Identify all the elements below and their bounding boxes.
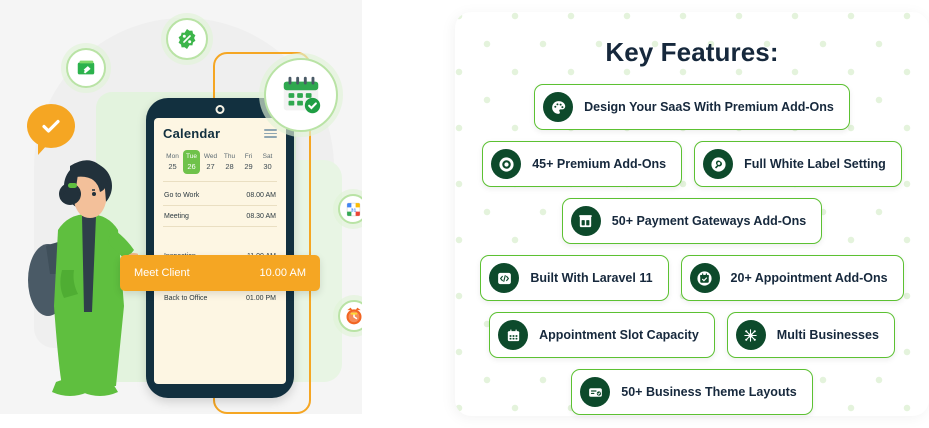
event-title: Meeting [164, 213, 189, 220]
discount-percent-icon [166, 18, 208, 60]
calendar-check-icon [264, 58, 338, 132]
highlighted-event-time: 10.00 AM [260, 267, 306, 279]
calendar-header: Calendar [163, 126, 277, 141]
event-title: Go to Work [164, 192, 199, 199]
credit-card-design-icon [66, 48, 106, 88]
day-name: Wed [202, 152, 219, 162]
week-day-selected[interactable]: Tue 26 [183, 150, 200, 174]
day-name: Mon [164, 152, 181, 162]
disc-target-icon [491, 149, 521, 179]
feature-chip-appointment-addons[interactable]: 20+ Appointment Add-Ons [681, 255, 904, 301]
week-strip: Mon 25 Tue 26 Wed 27 Thu 28 [163, 150, 277, 182]
feature-rows: Design Your SaaS With Premium Add-Ons 45… [455, 84, 929, 415]
palette-icon [543, 92, 573, 122]
week-day[interactable]: Wed 27 [202, 150, 219, 174]
feature-chip-laravel[interactable]: Built With Laravel 11 [480, 255, 668, 301]
calendar-grid-icon [498, 320, 528, 350]
event-row[interactable]: Meeting 08.30 AM [163, 206, 277, 227]
feature-label: Full White Label Setting [744, 157, 886, 171]
feature-label: 50+ Business Theme Layouts [621, 385, 796, 399]
label-tag-icon [703, 149, 733, 179]
feature-label: Multi Businesses [777, 328, 879, 342]
event-time: 08.30 AM [246, 213, 276, 220]
feature-chip-premium-addons[interactable]: 45+ Premium Add-Ons [482, 141, 682, 187]
features-panel: Key Features: Design Your SaaS With Prem… [455, 12, 929, 416]
highlighted-event-title: Meet Client [134, 267, 190, 279]
page-title: Key Features: [455, 37, 929, 68]
day-date: 29 [240, 162, 257, 173]
week-day[interactable]: Fri 29 [240, 150, 257, 174]
feature-row: Design Your SaaS With Premium Add-Ons [455, 84, 929, 130]
feature-row: 50+ Business Theme Layouts [455, 369, 929, 415]
feature-row: 45+ Premium Add-Ons Full White Label Set… [455, 141, 929, 187]
week-day[interactable]: Mon 25 [164, 150, 181, 174]
network-nodes-icon [736, 320, 766, 350]
feature-chip-white-label[interactable]: Full White Label Setting [694, 141, 902, 187]
key-features-banner: Calendar Mon 25 Tue 26 Wed 27 [0, 0, 929, 428]
week-day[interactable]: Sat 30 [259, 150, 276, 174]
calendar-check-icon [690, 263, 720, 293]
alarm-clock-icon [338, 300, 362, 332]
day-date: 25 [164, 162, 181, 173]
feature-label: 45+ Premium Add-Ons [532, 157, 666, 171]
google-calendar-31-icon: 31 [338, 194, 362, 224]
feature-chip-design-saas[interactable]: Design Your SaaS With Premium Add-Ons [534, 84, 850, 130]
calendar-app-title: Calendar [163, 126, 220, 141]
event-time: 01.00 PM [246, 295, 276, 302]
phone-camera-icon [216, 105, 225, 114]
feature-chip-slot-capacity[interactable]: Appointment Slot Capacity [489, 312, 715, 358]
day-name: Tue [183, 152, 200, 162]
highlighted-event-row[interactable]: Meet Client 10.00 AM [120, 255, 320, 291]
feature-row: Built With Laravel 11 20+ Appointment Ad… [455, 255, 929, 301]
hamburger-icon[interactable] [264, 129, 277, 138]
feature-label: 50+ Payment Gateways Add-Ons [612, 214, 806, 228]
payment-gateway-icon [571, 206, 601, 236]
day-date: 26 [183, 162, 200, 173]
feature-chip-multi-businesses[interactable]: Multi Businesses [727, 312, 895, 358]
day-name: Thu [221, 152, 238, 162]
event-row[interactable]: Back to Office 01.00 PM [163, 288, 277, 308]
day-date: 28 [221, 162, 238, 173]
phone-mockup: Calendar Mon 25 Tue 26 Wed 27 [146, 98, 294, 398]
code-brackets-icon [489, 263, 519, 293]
feature-label: Appointment Slot Capacity [539, 328, 699, 342]
checkmark-bubble-icon [27, 104, 75, 148]
feature-row: 50+ Payment Gateways Add-Ons [455, 198, 929, 244]
feature-label: 20+ Appointment Add-Ons [731, 271, 888, 285]
feature-label: Built With Laravel 11 [530, 271, 652, 285]
feature-row: Appointment Slot Capacity Multi Business… [455, 312, 929, 358]
feature-chip-theme-layouts[interactable]: 50+ Business Theme Layouts [571, 369, 812, 415]
card-layout-icon [580, 377, 610, 407]
svg-text:31: 31 [350, 207, 356, 213]
feature-chip-payment-gateways[interactable]: 50+ Payment Gateways Add-Ons [562, 198, 822, 244]
week-day[interactable]: Thu 28 [221, 150, 238, 174]
day-name: Fri [240, 152, 257, 162]
feature-label: Design Your SaaS With Premium Add-Ons [584, 100, 834, 114]
day-name: Sat [259, 152, 276, 162]
day-date: 30 [259, 162, 276, 173]
illustration-panel: Calendar Mon 25 Tue 26 Wed 27 [0, 0, 362, 414]
event-row[interactable]: Go to Work 08.00 AM [163, 185, 277, 206]
event-time: 08.00 AM [246, 192, 276, 199]
day-date: 27 [202, 162, 219, 173]
calendar-app-screen: Calendar Mon 25 Tue 26 Wed 27 [154, 118, 286, 384]
event-title: Back to Office [164, 295, 207, 302]
